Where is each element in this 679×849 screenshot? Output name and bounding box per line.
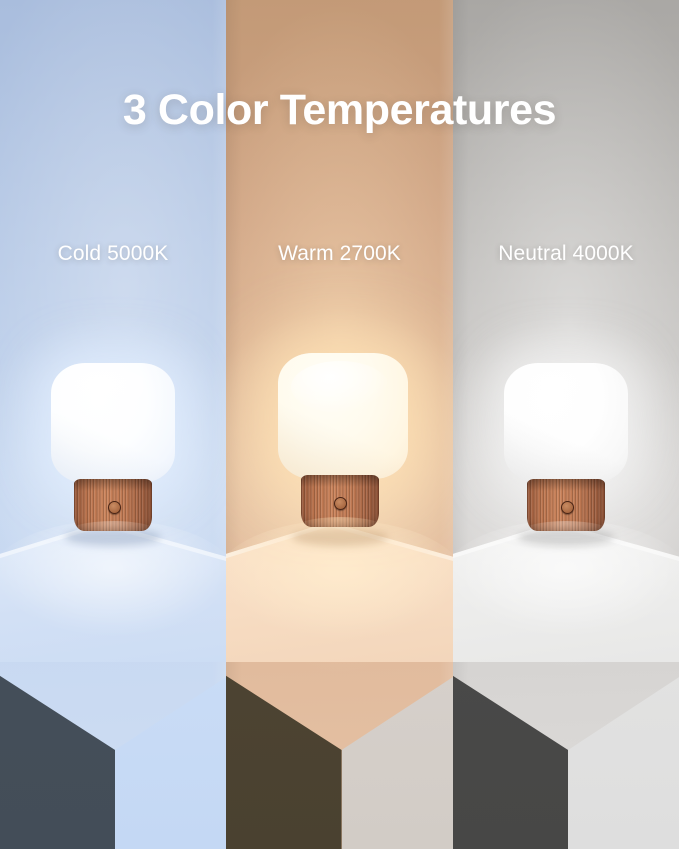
lamp-base-cold (74, 479, 152, 531)
lamp-shade-shading-neutral (504, 363, 628, 483)
power-button-icon-cold[interactable] (108, 501, 121, 514)
lamp-shade-shading-warm (278, 353, 408, 479)
lamp-shade-shading-cold (51, 363, 175, 483)
product-feature-image: 3 Color Temperatures Cold 5000K Warm 270… (0, 0, 679, 849)
table-lamp-cold (51, 363, 175, 531)
lamp-base-top-shading-neutral (527, 479, 605, 491)
pedestal-top-face-warm (226, 522, 453, 662)
pedestal-neutral (453, 522, 679, 849)
power-button-icon-neutral[interactable] (561, 501, 574, 514)
lamp-base-top-shading-cold (74, 479, 152, 491)
pedestal-cold (0, 522, 226, 849)
label-neutral: Neutral 4000K (453, 239, 679, 269)
lamp-base-neutral (527, 479, 605, 531)
lamp-base-warm (301, 475, 379, 527)
lamp-shade-warm (278, 353, 408, 479)
pedestal-top-face-neutral (453, 522, 679, 662)
label-warm: Warm 2700K (226, 239, 453, 269)
lamp-base-glow-neutral (527, 521, 605, 531)
lamp-base-top-shading-warm (301, 475, 379, 487)
color-temperature-labels: Cold 5000K Warm 2700K Neutral 4000K (0, 239, 679, 269)
page-title: 3 Color Temperatures (0, 86, 679, 135)
pedestal-top-face-cold (0, 522, 226, 662)
lamp-shade-cold (51, 363, 175, 483)
pedestal-warm (226, 522, 453, 849)
label-cold: Cold 5000K (0, 239, 226, 269)
table-lamp-neutral (504, 363, 628, 531)
table-lamp-warm (278, 353, 402, 527)
lamp-base-glow-cold (74, 521, 152, 531)
lamp-base-glow-warm (301, 517, 379, 527)
power-button-icon-warm[interactable] (334, 497, 347, 510)
lamp-shade-neutral (504, 363, 628, 483)
